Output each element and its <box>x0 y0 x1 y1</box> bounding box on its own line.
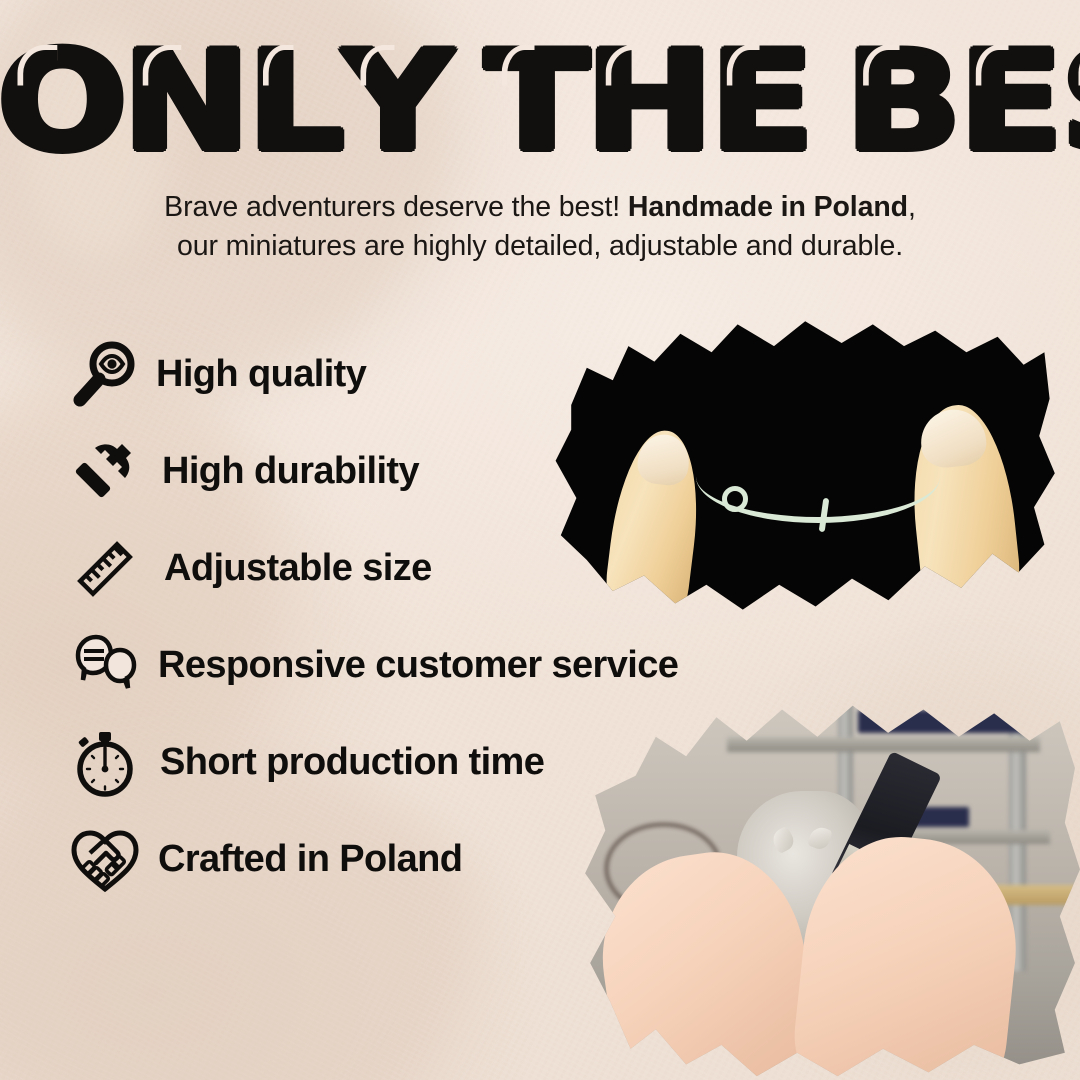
feature-label: High quality <box>156 353 366 396</box>
photo-ink-mask <box>540 312 1060 622</box>
feature-label: High durability <box>162 450 419 493</box>
flexible-miniature-photo: Two fingertips stretching a pale mint fl… <box>540 312 1060 622</box>
miniature-loop <box>722 486 748 512</box>
hammer-icon <box>62 429 148 515</box>
ruler-icon <box>62 526 148 612</box>
feature-label: Crafted in Poland <box>158 838 462 881</box>
heart-handshake-icon <box>62 817 148 903</box>
speech-bubbles-icon <box>62 623 148 709</box>
subtitle-comma: , <box>908 191 916 223</box>
storage-tray <box>858 710 1030 733</box>
stopwatch-icon <box>62 720 148 806</box>
workshop-crafting-photo: Hands holding a detailed dragon miniatur… <box>575 690 1080 1080</box>
miniature-wing <box>807 824 834 852</box>
page-title: ONLYTHEBEST <box>0 34 1080 169</box>
magnifier-eye-icon <box>62 332 148 418</box>
subtitle: Brave adventurers deserve the best! Hand… <box>90 188 990 266</box>
photo-ink-mask <box>575 690 1080 1080</box>
feature-label: Adjustable size <box>164 547 432 590</box>
feature-label: Short production time <box>160 741 544 784</box>
shelf-rail <box>727 737 1040 753</box>
subtitle-emphasis: Handmade in Poland <box>628 191 908 223</box>
miniature-wing <box>769 825 797 854</box>
subtitle-lead: Brave adventurers deserve the best! <box>164 191 628 223</box>
poster-canvas: ONLYTHEBEST ONLY THE BEST Brave adventur… <box>0 0 1080 1080</box>
subtitle-line-2: our miniatures are highly detailed, adju… <box>177 230 903 262</box>
feature-label: Responsive customer service <box>158 644 678 687</box>
